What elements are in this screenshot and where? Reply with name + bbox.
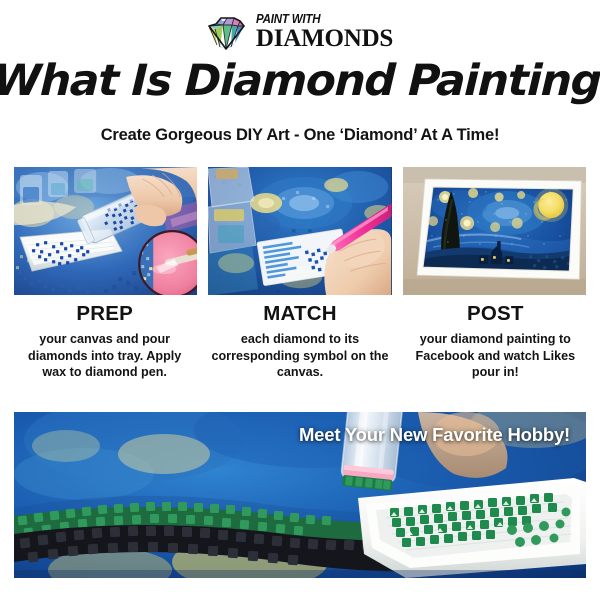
diamond-gem-icon: [207, 14, 247, 50]
step-prep: PREP your canvas and pour diamonds into …: [10, 302, 199, 381]
photo-match-symbol: [208, 167, 391, 295]
step-prep-title: PREP: [10, 302, 199, 326]
page-title: What Is Diamond Painting?: [0, 58, 600, 104]
step-match-description: each diamond to its corresponding symbol…: [205, 331, 394, 381]
page-subtitle: Create Gorgeous DIY Art - One ‘Diamond’ …: [0, 126, 600, 145]
step-post: POST your diamond painting to Facebook a…: [401, 302, 590, 381]
photo-hero-pen-and-tray: Meet Your New Favorite Hobby!: [14, 412, 586, 578]
step-match-title: MATCH: [205, 302, 394, 326]
infographic-page: PAINT WITH DIAMONDS What Is Diamond Pain…: [0, 0, 600, 600]
step-post-description: your diamond painting to Facebook and wa…: [401, 331, 590, 381]
photo-post-finished-painting: [403, 167, 586, 295]
step-photo-row: [14, 167, 586, 295]
brand-line-diamonds: DIAMONDS: [256, 27, 393, 51]
brand-header: PAINT WITH DIAMONDS: [0, 8, 600, 56]
step-match: MATCH each diamond to its corresponding …: [205, 302, 394, 381]
brand-wordmark: PAINT WITH DIAMONDS: [256, 13, 393, 51]
step-prep-description: your canvas and pour diamonds into tray.…: [10, 331, 199, 381]
step-post-title: POST: [401, 302, 590, 326]
photo-prep-pouring-diamonds: [14, 167, 197, 295]
brand-line-paint-with: PAINT WITH: [256, 13, 320, 26]
step-captions-row: PREP your canvas and pour diamonds into …: [10, 302, 590, 381]
banner-caption: Meet Your New Favorite Hobby!: [299, 424, 570, 446]
